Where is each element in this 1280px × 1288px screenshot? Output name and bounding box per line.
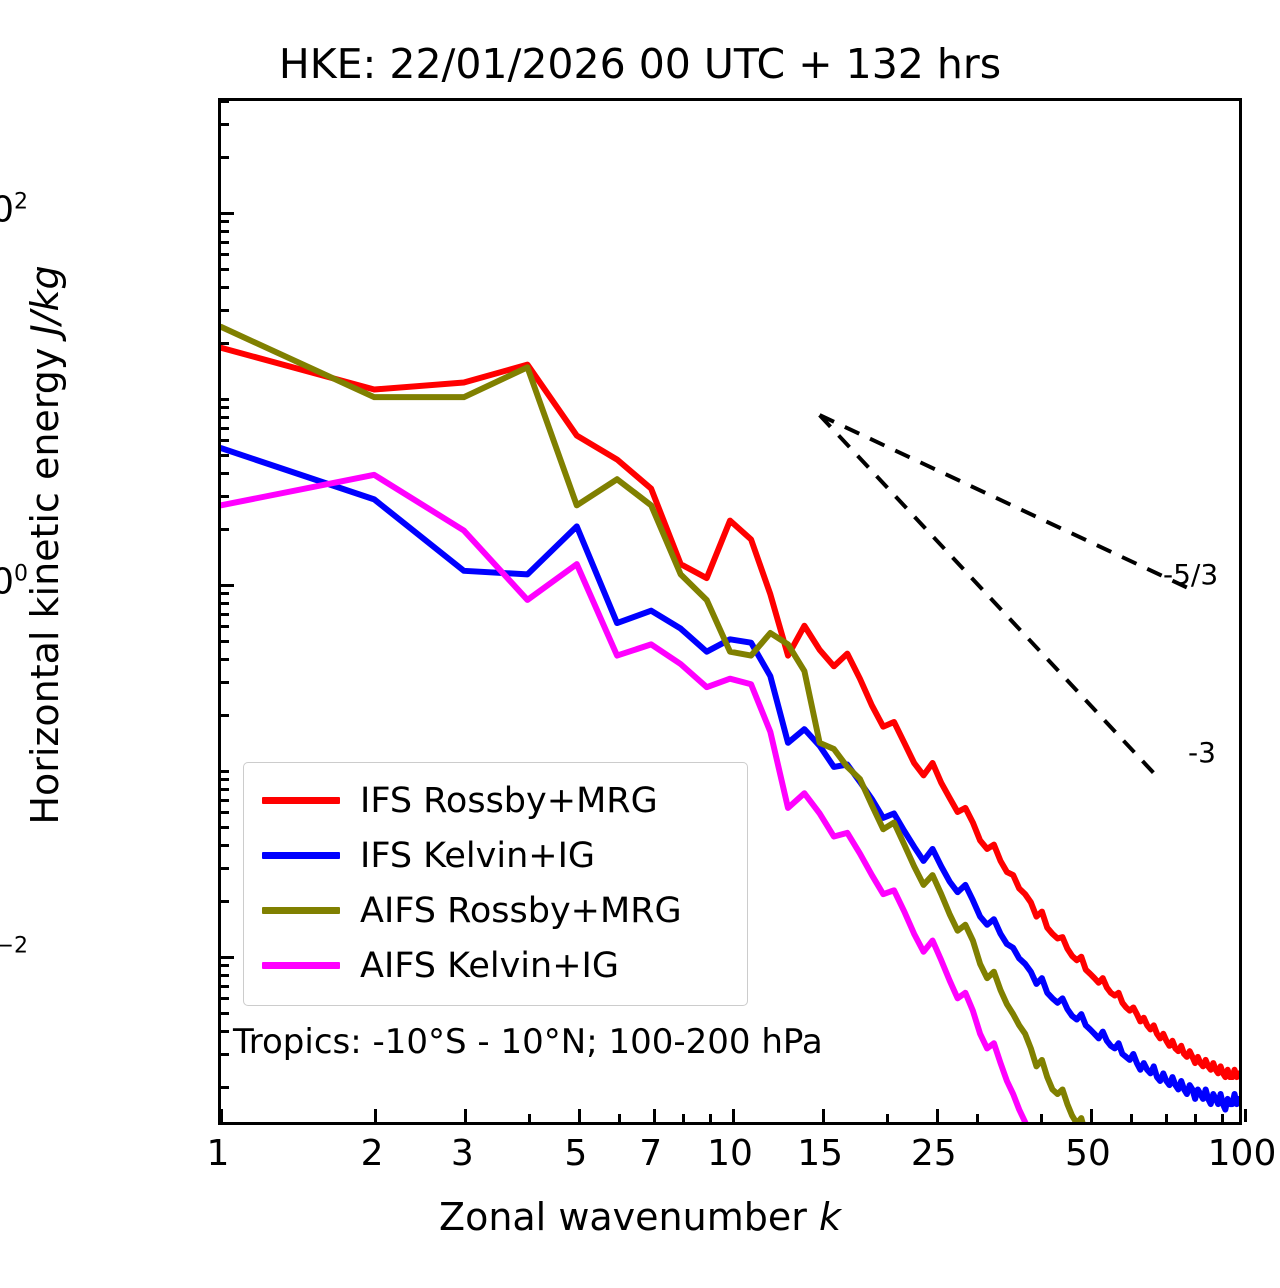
y-tick-minor	[221, 613, 229, 616]
x-tick-label: 1	[207, 1133, 230, 1174]
x-tick-label: 50	[1065, 1133, 1111, 1174]
slope-label: -5/3	[1163, 558, 1218, 591]
y-tick-minor	[221, 592, 229, 595]
y-tick-minor	[221, 342, 229, 345]
x-tick-major	[374, 1109, 377, 1122]
x-tick-major	[822, 1109, 825, 1122]
x-tick-label: 15	[797, 1133, 843, 1174]
x-tick-minor	[1130, 1114, 1133, 1122]
x-tick-label: 7	[639, 1133, 662, 1174]
legend-item[interactable]: IFS Kelvin+IG	[244, 828, 747, 883]
x-tick-label: 2	[361, 1133, 384, 1174]
region-annotation: Tropics: -10°S - 10°N; 100-200 hPa	[233, 1022, 823, 1062]
legend-item[interactable]: AIFS Kelvin+IG	[244, 938, 747, 993]
y-tick-minor	[221, 985, 229, 988]
y-tick-minor	[221, 826, 229, 829]
y-tick-minor	[221, 472, 229, 475]
y-tick-minor	[221, 844, 229, 847]
y-tick-major	[221, 212, 234, 215]
y-tick-label: 10−2	[0, 933, 28, 974]
x-tick-minor	[976, 1114, 979, 1122]
chart-title: HKE: 22/01/2026 00 UTC + 132 hrs	[0, 40, 1280, 88]
legend-label: IFS Rossby+MRG	[360, 781, 658, 821]
y-tick-minor	[221, 220, 229, 223]
y-tick-minor	[221, 964, 229, 967]
y-tick-minor	[221, 230, 229, 233]
x-tick-major	[653, 1109, 656, 1122]
y-tick-minor	[221, 770, 229, 773]
figure: HKE: 22/01/2026 00 UTC + 132 hrs Horizon…	[0, 0, 1280, 1288]
y-tick-minor	[221, 799, 229, 802]
legend-swatch-ifs-kelvin-ig	[262, 852, 340, 859]
reference-slope-line	[820, 415, 1161, 780]
slope-label: -3	[1188, 736, 1216, 769]
y-tick-minor	[221, 241, 229, 244]
x-tick-minor	[528, 1114, 531, 1122]
x-tick-label: 3	[451, 1133, 474, 1174]
y-tick-minor	[221, 454, 229, 457]
y-tick-minor	[221, 253, 229, 256]
legend-label: AIFS Kelvin+IG	[360, 946, 619, 986]
reference-slope-line	[820, 415, 1190, 589]
y-tick-minor	[221, 640, 229, 643]
y-axis-title-text: Horizontal kinetic energy	[23, 336, 67, 825]
y-tick-minor	[221, 997, 229, 1000]
x-tick-major	[578, 1109, 581, 1122]
x-tick-major	[220, 1109, 223, 1122]
x-axis-title: Zonal wavenumber k	[0, 1195, 1280, 1239]
y-axis-title: Horizontal kinetic energy J/kg	[23, 165, 67, 925]
y-tick-minor	[221, 1086, 229, 1089]
x-tick-label: 100	[1208, 1133, 1277, 1174]
y-tick-minor	[221, 788, 229, 791]
y-tick-minor	[221, 811, 229, 814]
x-tick-major	[1090, 1109, 1093, 1122]
x-tick-minor	[1221, 1114, 1224, 1122]
legend: IFS Rossby+MRG IFS Kelvin+IG AIFS Rossby…	[243, 762, 748, 1006]
x-tick-label: 5	[564, 1133, 587, 1174]
x-tick-major	[732, 1109, 735, 1122]
y-tick-minor	[221, 974, 229, 977]
x-axis-symbol: k	[819, 1195, 841, 1239]
y-tick-minor	[221, 681, 229, 684]
y-tick-label: 102	[0, 189, 28, 230]
x-tick-minor	[618, 1114, 621, 1122]
y-tick-minor	[221, 268, 229, 271]
x-tick-label: 10	[707, 1133, 753, 1174]
legend-item[interactable]: AIFS Rossby+MRG	[244, 883, 747, 938]
x-tick-label: 25	[911, 1133, 957, 1174]
y-tick-minor	[221, 406, 229, 409]
y-tick-minor	[221, 416, 229, 419]
y-tick-minor	[221, 900, 229, 903]
x-tick-minor	[886, 1114, 889, 1122]
x-tick-major	[464, 1109, 467, 1122]
y-tick-label: 100	[0, 561, 28, 602]
y-tick-minor	[221, 778, 229, 781]
y-tick-minor	[221, 1053, 229, 1056]
y-tick-minor	[221, 714, 229, 717]
x-tick-major	[1244, 1109, 1247, 1122]
y-tick-major	[221, 956, 234, 959]
y-tick-minor	[221, 867, 229, 870]
legend-label: IFS Kelvin+IG	[360, 836, 595, 876]
y-tick-minor	[221, 495, 229, 498]
x-axis-title-text: Zonal wavenumber	[439, 1195, 819, 1239]
x-tick-minor	[1165, 1114, 1168, 1122]
y-tick-minor	[221, 528, 229, 531]
legend-label: AIFS Rossby+MRG	[360, 891, 682, 931]
x-tick-minor	[709, 1114, 712, 1122]
x-tick-major	[936, 1109, 939, 1122]
x-tick-minor	[682, 1114, 685, 1122]
legend-swatch-ifs-rossby-mrg	[262, 797, 340, 804]
y-tick-minor	[221, 602, 229, 605]
y-tick-major	[221, 584, 234, 587]
y-tick-minor	[221, 100, 229, 103]
legend-swatch-aifs-kelvin-ig	[262, 962, 340, 969]
y-tick-minor	[221, 427, 229, 430]
y-tick-minor	[221, 1030, 229, 1033]
y-tick-minor	[221, 439, 229, 442]
y-tick-minor	[221, 309, 229, 312]
legend-swatch-aifs-rossby-mrg	[262, 907, 340, 914]
y-tick-minor	[221, 1012, 229, 1015]
y-tick-minor	[221, 123, 229, 126]
y-tick-minor	[221, 625, 229, 628]
x-tick-minor	[1194, 1114, 1197, 1122]
legend-item[interactable]: IFS Rossby+MRG	[244, 773, 747, 828]
y-tick-minor	[221, 286, 229, 289]
y-tick-minor	[221, 398, 229, 401]
y-axis-units: J/kg	[23, 265, 67, 335]
x-tick-minor	[1040, 1114, 1043, 1122]
y-tick-minor	[221, 156, 229, 159]
y-tick-minor	[221, 658, 229, 661]
